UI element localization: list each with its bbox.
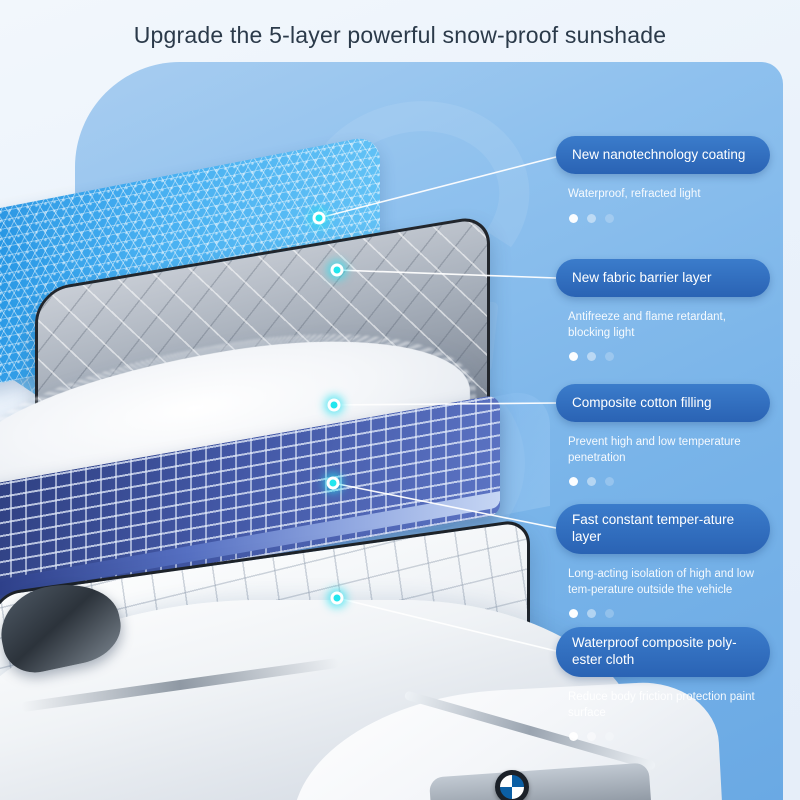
callout-5-description: Reduce body friction protection paint su… (556, 690, 770, 721)
callout-2-description: Antifreeze and flame retardant, blocking… (556, 310, 770, 341)
infographic-canvas: Upgrade the 5-layer powerful snow-proof … (0, 0, 800, 800)
callout-1-description: Waterproof, refracted light (556, 187, 770, 203)
callout-3-dots[interactable] (556, 477, 770, 486)
bmw-emblem-icon (495, 770, 529, 800)
layer-marker-2[interactable] (331, 264, 344, 277)
callout-3-description: Prevent high and low temperature penetra… (556, 435, 770, 466)
callout-4: Fast constant temper-ature layer Long-ac… (556, 504, 770, 618)
callout-5: Waterproof composite poly-ester cloth Re… (556, 627, 770, 741)
callout-1-dots[interactable] (556, 214, 770, 223)
layer-marker-4[interactable] (327, 477, 340, 490)
layer-marker-5[interactable] (331, 592, 344, 605)
layer-marker-1[interactable] (313, 212, 326, 225)
callout-5-label[interactable]: Waterproof composite poly-ester cloth (556, 627, 770, 677)
callout-4-label[interactable]: Fast constant temper-ature layer (556, 504, 770, 554)
callout-3-label[interactable]: Composite cotton filling (556, 384, 770, 422)
callout-4-dots[interactable] (556, 609, 770, 618)
callout-2-dots[interactable] (556, 352, 770, 361)
callout-1: New nanotechnology coating Waterproof, r… (556, 136, 770, 223)
layer-marker-3[interactable] (328, 399, 341, 412)
callout-2: New fabric barrier layer Antifreeze and … (556, 259, 770, 361)
callout-5-dots[interactable] (556, 732, 770, 741)
callout-2-label[interactable]: New fabric barrier layer (556, 259, 770, 297)
callout-1-label[interactable]: New nanotechnology coating (556, 136, 770, 174)
callout-4-description: Long-acting isolation of high and low te… (556, 567, 770, 598)
callout-3: Composite cotton filling Prevent high an… (556, 384, 770, 486)
